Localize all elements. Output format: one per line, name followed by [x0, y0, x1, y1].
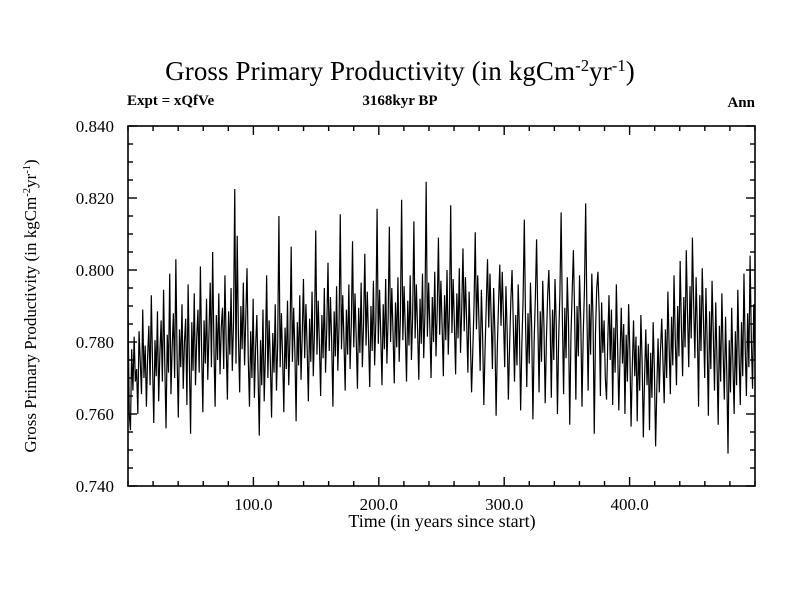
x-tick-label: 100.0	[234, 495, 272, 514]
x-tick-label: 400.0	[610, 495, 648, 514]
x-tick-label: 200.0	[360, 495, 398, 514]
x-tick-label: 300.0	[485, 495, 523, 514]
y-tick-label: 0.780	[76, 333, 114, 352]
gpp-line-series	[128, 182, 755, 454]
y-tick-label: 0.760	[76, 405, 114, 424]
y-tick-label: 0.820	[76, 189, 114, 208]
data-series-group	[128, 182, 755, 454]
chart-figure: Gross Primary Productivity (in kgCm-2yr-…	[0, 0, 800, 600]
y-tick-label: 0.800	[76, 261, 114, 280]
y-tick-label-group: 0.8400.8200.8000.7800.7600.740	[76, 117, 114, 496]
x-tick-label-group: 100.0200.0300.0400.0	[234, 495, 648, 514]
plot-area: 0.8400.8200.8000.7800.7600.740 100.0200.…	[0, 0, 800, 600]
y-tick-label: 0.740	[76, 477, 114, 496]
y-tick-label: 0.840	[76, 117, 114, 136]
